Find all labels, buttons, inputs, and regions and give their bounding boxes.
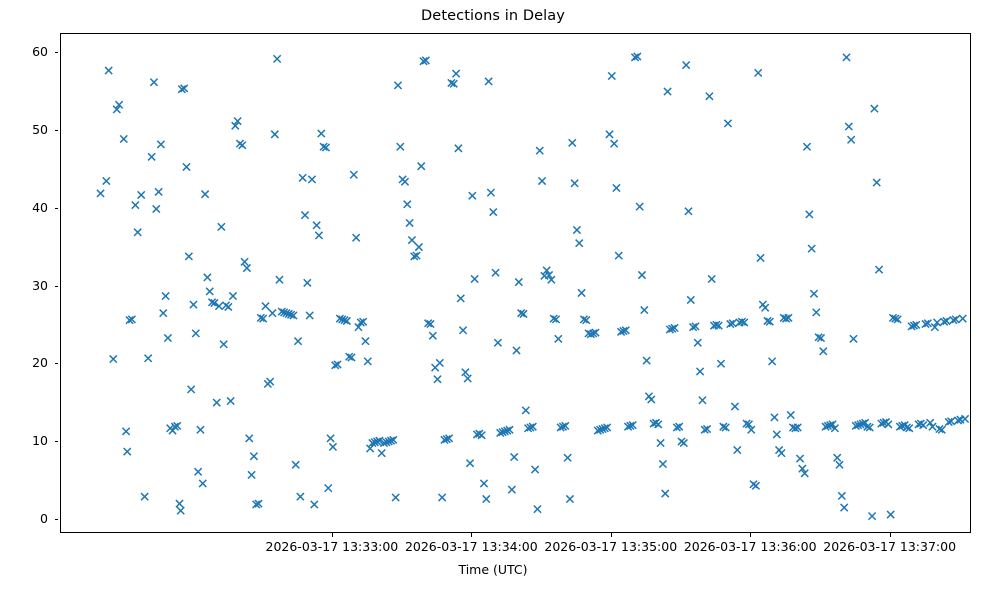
scatter-marker: [471, 275, 478, 282]
scatter-marker: [834, 454, 841, 461]
scatter-marker: [755, 69, 762, 76]
scatter-marker: [318, 130, 325, 137]
scatter-marker: [157, 141, 164, 148]
scatter-marker: [648, 396, 655, 403]
scatter-marker: [680, 439, 687, 446]
scatter-marker: [836, 461, 843, 468]
scatter-marker: [392, 494, 399, 501]
scatter-marker: [708, 275, 715, 282]
scatter-marker: [353, 234, 360, 241]
scatter-marker: [313, 222, 320, 229]
scatter-marker: [457, 295, 464, 302]
scatter-marker: [362, 338, 369, 345]
scatter-marker: [808, 245, 815, 252]
scatter-marker: [315, 232, 322, 239]
scatter-marker: [803, 143, 810, 150]
scatter-marker: [636, 203, 643, 210]
scatter-marker: [843, 54, 850, 61]
scatter-marker: [218, 223, 225, 230]
scatter-marker: [694, 339, 701, 346]
scatter-marker: [536, 147, 543, 154]
scatter-marker: [838, 492, 845, 499]
scatter-marker: [771, 414, 778, 421]
scatter-marker: [659, 460, 666, 467]
scatter-marker: [452, 70, 459, 77]
scatter-marker: [141, 493, 148, 500]
scatter-marker: [734, 446, 741, 453]
scatter-marker: [494, 339, 501, 346]
scatter-marker: [269, 310, 276, 317]
scatter-marker: [404, 201, 411, 208]
scatter-marker: [241, 258, 248, 265]
scatter-marker: [806, 211, 813, 218]
scatter-marker: [487, 189, 494, 196]
scatter-marker: [483, 495, 490, 502]
scatter-marker: [229, 292, 236, 299]
scatter-marker: [534, 506, 541, 513]
scatter-marker: [329, 443, 336, 450]
scatter-marker: [124, 448, 131, 455]
scatter-marker: [613, 184, 620, 191]
scatter-marker: [724, 120, 731, 127]
scatter-marker: [110, 355, 117, 362]
scatter-marker: [455, 145, 462, 152]
scatter-marker: [657, 439, 664, 446]
scatter-marker: [250, 453, 257, 460]
scatter-marker: [327, 435, 334, 442]
scatter-marker: [810, 290, 817, 297]
scatter-marker: [188, 386, 195, 393]
scatter-marker: [959, 315, 966, 322]
scatter-marker: [664, 88, 671, 95]
scatter-marker: [845, 123, 852, 130]
scatter-marker: [145, 355, 152, 362]
scatter-marker: [401, 178, 408, 185]
scatter-marker: [183, 163, 190, 170]
scatter-marker: [508, 486, 515, 493]
scatter-marker: [132, 201, 139, 208]
scatter-marker: [134, 229, 141, 236]
scatter-marker: [148, 153, 155, 160]
scatter-marker: [239, 142, 246, 149]
scatter-marker: [683, 62, 690, 69]
scatter-marker: [195, 468, 202, 475]
scatter-marker: [192, 330, 199, 337]
scatter-marker: [325, 485, 332, 492]
scatter-marker: [185, 253, 192, 260]
scatter-marker: [262, 303, 269, 310]
scatter-marker: [415, 243, 422, 250]
scatter-marker: [276, 276, 283, 283]
scatter-marker: [153, 205, 160, 212]
scatter-marker: [162, 292, 169, 299]
scatter-marker: [641, 306, 648, 313]
scatter-marker: [638, 271, 645, 278]
scatter-marker: [155, 188, 162, 195]
scatter-marker: [787, 411, 794, 418]
scatter-marker: [292, 461, 299, 468]
scatter-marker: [462, 369, 469, 376]
scatter-marker: [564, 454, 571, 461]
scatter-marker: [643, 357, 650, 364]
scatter-marker: [606, 131, 613, 138]
scatter-marker: [177, 507, 184, 514]
scatter-marker: [773, 431, 780, 438]
scatter-marker: [796, 455, 803, 462]
scatter-marker: [418, 163, 425, 170]
scatter-marker: [485, 78, 492, 85]
scatter-marker: [576, 240, 583, 247]
x-tick-mark: [750, 533, 751, 537]
scatter-marker: [394, 82, 401, 89]
scatter-marker: [887, 511, 894, 518]
scatter-marker: [164, 334, 171, 341]
scatter-marker: [150, 79, 157, 86]
scatter-marker: [304, 279, 311, 286]
scatter-marker: [687, 296, 694, 303]
scatter-marker: [301, 212, 308, 219]
scatter-marker: [138, 191, 145, 198]
scatter-marker: [243, 264, 250, 271]
x-tick-mark: [332, 533, 333, 537]
scatter-marker: [160, 310, 167, 317]
x-tick-mark: [471, 533, 472, 537]
scatter-marker: [308, 176, 315, 183]
scatter-marker: [611, 140, 618, 147]
scatter-marker: [875, 266, 882, 273]
scatter-marker: [397, 143, 404, 150]
scatter-marker: [436, 359, 443, 366]
x-axis-label: Time (UTC): [0, 562, 986, 577]
x-tick-label: 2026-03-17 13:37:00: [790, 539, 986, 554]
scatter-marker: [480, 480, 487, 487]
scatter-marker: [267, 378, 274, 385]
scatter-marker: [201, 191, 208, 198]
scatter-marker: [350, 171, 357, 178]
scatter-marker: [850, 335, 857, 342]
scatter-marker: [513, 347, 520, 354]
scatter-marker: [757, 254, 764, 261]
scatter-marker: [429, 332, 436, 339]
scatter-marker: [246, 435, 253, 442]
scatter-marker: [608, 72, 615, 79]
scatter-marker: [97, 190, 104, 197]
scatter-marker: [213, 399, 220, 406]
scatter-marker: [920, 422, 927, 429]
scatter-marker: [717, 360, 724, 367]
scatter-marker: [706, 93, 713, 100]
scatter-marker: [439, 494, 446, 501]
scatter-marker: [299, 174, 306, 181]
scatter-marker: [271, 131, 278, 138]
scatter-marker: [297, 493, 304, 500]
scatter-marker: [813, 309, 820, 316]
scatter-marker: [459, 327, 466, 334]
matplotlib-figure: Detections in Delay 0102030405060 2026-0…: [0, 0, 986, 590]
scatter-marker: [662, 490, 669, 497]
scatter-marker: [406, 219, 413, 226]
scatter-marker: [752, 482, 759, 489]
scatter-marker: [197, 426, 204, 433]
scatter-marker: [464, 375, 471, 382]
scatter-marker: [206, 288, 213, 295]
scatter-marker: [220, 341, 227, 348]
scatter-marker: [573, 226, 580, 233]
scatter-marker: [762, 304, 769, 311]
scatter-marker: [848, 136, 855, 143]
scatter-marker: [538, 177, 545, 184]
scatter-marker: [731, 403, 738, 410]
scatter-marker: [190, 301, 197, 308]
scatter-marker: [103, 177, 110, 184]
scatter-marker: [873, 179, 880, 186]
scatter-marker: [176, 500, 183, 507]
scatter-marker: [515, 278, 522, 285]
scatter-marker: [378, 450, 385, 457]
scatter-marker: [469, 192, 476, 199]
scatter-marker: [274, 55, 281, 62]
scatter-marker: [566, 495, 573, 502]
scatter-marker: [306, 312, 313, 319]
scatter-marker: [408, 236, 415, 243]
scatter-marker: [871, 105, 878, 112]
scatter-marker: [122, 428, 129, 435]
scatter-marker: [555, 335, 562, 342]
scatter-marker: [522, 407, 529, 414]
scatter-marker: [311, 501, 318, 508]
scatter-marker: [615, 252, 622, 259]
plot-area: [60, 33, 971, 533]
scatter-marker: [769, 358, 776, 365]
scatter-marker: [466, 460, 473, 467]
scatter-marker: [225, 303, 232, 310]
scatter-marker: [571, 180, 578, 187]
scatter-marker: [490, 208, 497, 215]
x-tick-mark: [611, 533, 612, 537]
scatter-series-detections: [61, 34, 970, 532]
scatter-marker: [434, 376, 441, 383]
scatter-marker: [578, 289, 585, 296]
scatter-marker: [868, 513, 875, 520]
scatter-marker: [778, 450, 785, 457]
scatter-marker: [531, 466, 538, 473]
scatter-marker: [364, 358, 371, 365]
scatter-marker: [227, 397, 234, 404]
scatter-marker: [511, 453, 518, 460]
x-tick-mark: [890, 533, 891, 537]
scatter-marker: [841, 504, 848, 511]
scatter-marker: [655, 421, 662, 428]
scatter-marker: [105, 67, 112, 74]
scatter-marker: [248, 471, 255, 478]
scatter-points-layer: [61, 34, 970, 532]
scatter-marker: [820, 348, 827, 355]
scatter-marker: [961, 415, 968, 422]
scatter-marker: [699, 397, 706, 404]
scatter-marker: [685, 208, 692, 215]
scatter-marker: [199, 480, 206, 487]
scatter-marker: [492, 269, 499, 276]
scatter-marker: [696, 368, 703, 375]
scatter-marker: [478, 432, 485, 439]
scatter-marker: [204, 274, 211, 281]
scatter-marker: [569, 139, 576, 146]
scatter-marker: [294, 338, 301, 345]
scatter-marker: [120, 135, 127, 142]
